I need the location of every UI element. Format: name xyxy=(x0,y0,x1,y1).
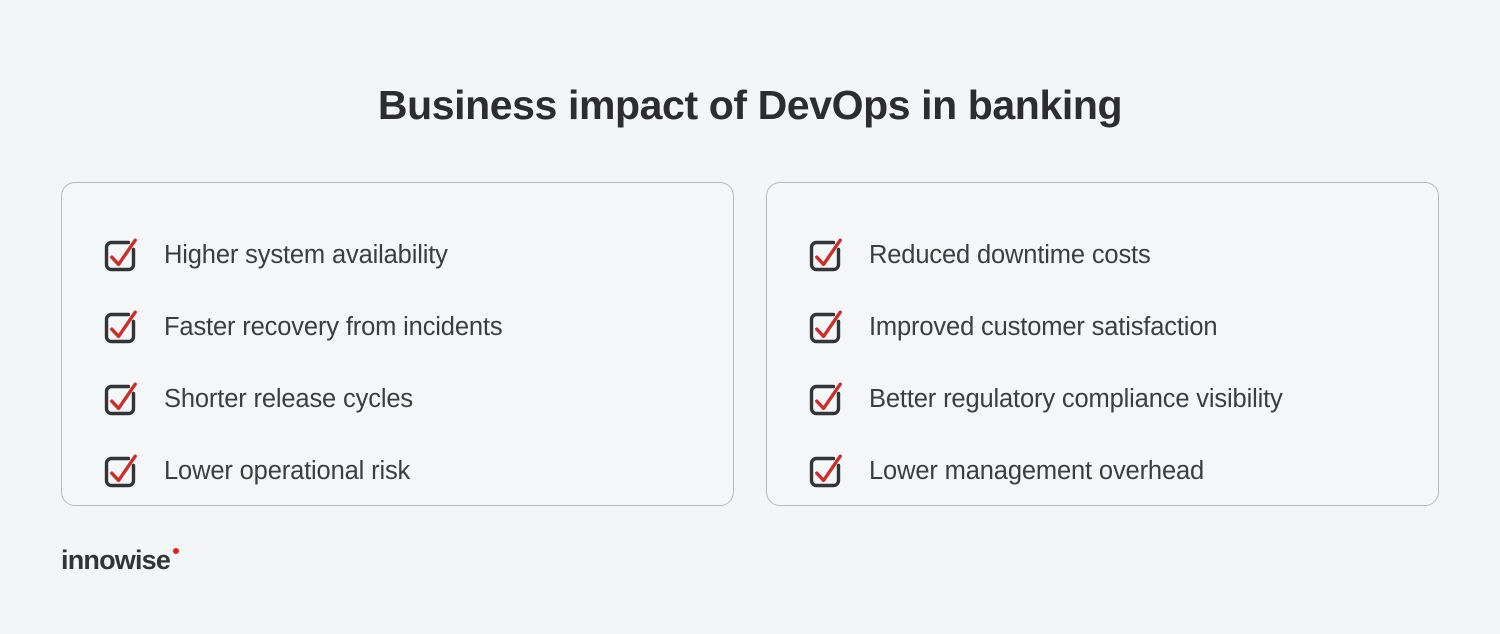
list-item[interactable]: Higher system availability xyxy=(98,219,713,291)
list-item-label: Lower operational risk xyxy=(164,456,410,486)
list-item-label: Higher system availability xyxy=(164,240,448,270)
list-item[interactable]: Lower operational risk xyxy=(98,435,713,507)
checkbox-checked-icon xyxy=(98,305,142,349)
checkbox-checked-icon xyxy=(803,305,847,349)
checkbox-checked-icon xyxy=(98,377,142,421)
innowise-logo: innowise xyxy=(61,545,179,575)
list-item[interactable]: Better regulatory compliance visibility xyxy=(803,363,1418,435)
list-item-label: Shorter release cycles xyxy=(164,384,413,414)
list-item[interactable]: Shorter release cycles xyxy=(98,363,713,435)
checkbox-checked-icon xyxy=(803,449,847,493)
list-item-label: Faster recovery from incidents xyxy=(164,312,502,342)
infographic-page: Business impact of DevOps in banking Hig… xyxy=(0,0,1500,634)
list-item[interactable]: Improved customer satisfaction xyxy=(803,291,1418,363)
checkbox-checked-icon xyxy=(98,233,142,277)
list-item[interactable]: Faster recovery from incidents xyxy=(98,291,713,363)
list-item-label: Better regulatory compliance visibility xyxy=(869,384,1283,414)
right-card: Reduced downtime costs Improved customer… xyxy=(766,182,1439,506)
list-item-label: Lower management overhead xyxy=(869,456,1204,486)
list-item-label: Improved customer satisfaction xyxy=(869,312,1217,342)
list-item[interactable]: Reduced downtime costs xyxy=(803,219,1418,291)
checkbox-checked-icon xyxy=(803,377,847,421)
left-card-list: Higher system availability Faster recove… xyxy=(98,219,713,507)
checkbox-checked-icon xyxy=(803,233,847,277)
page-title: Business impact of DevOps in banking xyxy=(0,78,1500,132)
list-item[interactable]: Lower management overhead xyxy=(803,435,1418,507)
list-item-label: Reduced downtime costs xyxy=(869,240,1151,270)
checkbox-checked-icon xyxy=(98,449,142,493)
logo-dot-icon xyxy=(173,548,179,554)
benefit-cards-container: Higher system availability Faster recove… xyxy=(61,182,1439,506)
logo-wordmark: innowise xyxy=(61,545,170,575)
left-card: Higher system availability Faster recove… xyxy=(61,182,734,506)
right-card-list: Reduced downtime costs Improved customer… xyxy=(803,219,1418,507)
